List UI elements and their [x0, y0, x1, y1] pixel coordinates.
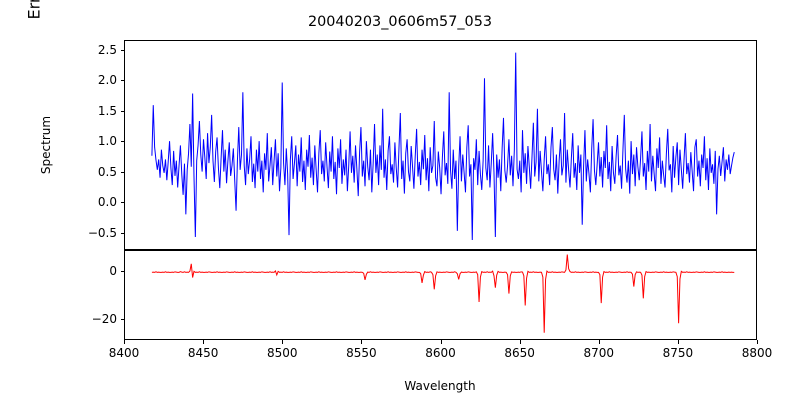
x-tick-mark: [441, 340, 442, 344]
y-tick-mark-spectrum: [121, 233, 125, 234]
y-tick-label-spectrum: 1.0: [84, 134, 117, 148]
x-tick-label: 8650: [504, 346, 535, 360]
y-tick-mark-spectrum: [121, 80, 125, 81]
y-tick-label-error: −20: [84, 312, 117, 326]
y-axis-label-error-text: Error: [25, 0, 44, 20]
x-tick-mark: [203, 340, 204, 344]
x-tick-label: 8800: [742, 346, 773, 360]
y-tick-mark-spectrum: [121, 111, 125, 112]
x-tick-mark: [520, 340, 521, 344]
y-tick-label-spectrum: 2.5: [84, 43, 117, 57]
x-tick-label: 8600: [425, 346, 456, 360]
x-tick-label: 8550: [346, 346, 377, 360]
x-tick-mark: [361, 340, 362, 344]
x-tick-mark: [282, 340, 283, 344]
y-tick-mark-error: [121, 271, 125, 272]
x-tick-mark: [757, 340, 758, 344]
y-tick-label-spectrum: 2.0: [84, 73, 117, 87]
x-tick-mark: [124, 340, 125, 344]
spectrum-plot-area: [124, 40, 757, 250]
x-tick-label: 8400: [109, 346, 140, 360]
spectrum-line-series: [125, 41, 757, 250]
x-axis-label: Wavelength: [404, 379, 475, 393]
page-title: 20040203_0606m57_053: [0, 14, 800, 30]
x-tick-mark: [599, 340, 600, 344]
y-tick-label-spectrum: 0.5: [84, 165, 117, 179]
matplotlib-figure: 20040203_0606m57_053 −0.50.00.51.01.52.0…: [0, 0, 800, 400]
x-tick-label: 8450: [188, 346, 219, 360]
y-tick-mark-spectrum: [121, 202, 125, 203]
y-tick-label-spectrum: 1.5: [84, 104, 117, 118]
y-tick-mark-spectrum: [121, 172, 125, 173]
error-line-series: [125, 251, 757, 340]
x-tick-label: 8500: [267, 346, 298, 360]
y-tick-mark-spectrum: [121, 50, 125, 51]
y-axis-label-spectrum-text: Spectrum: [39, 116, 53, 174]
x-tick-label: 8700: [584, 346, 615, 360]
y-tick-label-spectrum: 0.0: [84, 195, 117, 209]
y-tick-label-error: 0: [84, 264, 117, 278]
y-tick-mark-error: [121, 319, 125, 320]
x-tick-label: 8750: [663, 346, 694, 360]
y-tick-mark-spectrum: [121, 141, 125, 142]
x-tick-mark: [678, 340, 679, 344]
error-plot-area: [124, 250, 757, 340]
y-tick-label-spectrum: −0.5: [84, 226, 117, 240]
